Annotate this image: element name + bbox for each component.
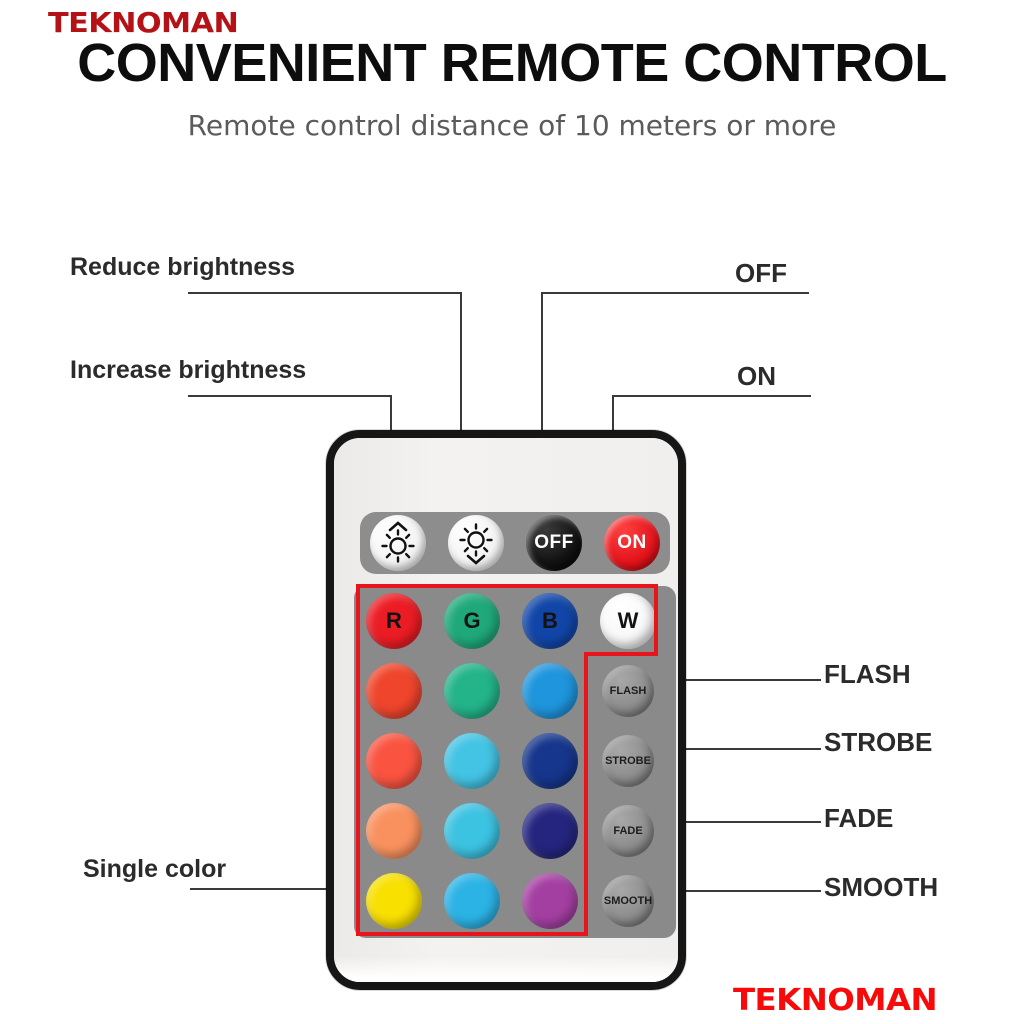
power-on-label: ON xyxy=(604,515,660,571)
color-button-white[interactable]: W xyxy=(600,593,656,649)
color-button-r2c2[interactable] xyxy=(444,663,500,719)
teknoman-logo-bottom: TEKNOMAN xyxy=(733,983,937,1018)
color-button-r5c3[interactable] xyxy=(522,873,578,929)
leader-line-increase-h xyxy=(188,395,392,397)
page-subtitle: Remote control distance of 10 meters or … xyxy=(0,112,1024,140)
mode-button-label-smooth: SMOOTH xyxy=(602,875,654,927)
callout-label-smooth: SMOOTH xyxy=(824,872,938,903)
annotation-frame-top xyxy=(356,584,658,588)
callout-label-strobe: STROBE xyxy=(824,727,932,758)
sun-arrow-down-icon xyxy=(448,515,504,571)
mode-button-strobe[interactable]: STROBE xyxy=(602,735,654,787)
mode-button-fade[interactable]: FADE xyxy=(602,805,654,857)
color-button-r2c1[interactable] xyxy=(366,663,422,719)
callout-label-fade: FADE xyxy=(824,803,893,834)
poster-canvas: TEKNOMAN TEKNOMAN TEKNOMAN TEKNOMAN CONV… xyxy=(0,0,1024,1024)
mode-button-flash[interactable]: FLASH xyxy=(602,665,654,717)
leader-line-off-h xyxy=(541,292,809,294)
mode-button-label-fade: FADE xyxy=(602,805,654,857)
callout-label-off: OFF xyxy=(735,258,787,289)
mode-button-label-strobe: STROBE xyxy=(602,735,654,787)
mode-button-smooth[interactable]: SMOOTH xyxy=(602,875,654,927)
callout-label-increase-brightness: Increase brightness xyxy=(70,356,306,385)
sun-arrow-up-icon xyxy=(370,515,426,571)
annotation-frame-bottom xyxy=(356,932,588,936)
color-button-r2c3[interactable] xyxy=(522,663,578,719)
leader-line-single-color xyxy=(190,888,335,890)
color-button-red[interactable]: R xyxy=(366,593,422,649)
color-button-label-w: W xyxy=(600,593,656,649)
color-button-label-g: G xyxy=(444,593,500,649)
callout-label-single-color: Single color xyxy=(83,855,226,884)
page-title: CONVENIENT REMOTE CONTROL xyxy=(0,36,1024,90)
power-on-button[interactable]: ON xyxy=(604,515,660,571)
annotation-frame-right-lower xyxy=(584,652,588,936)
brightness-down-button[interactable] xyxy=(370,515,426,571)
callout-label-on: ON xyxy=(737,361,776,392)
color-button-r3c2[interactable] xyxy=(444,733,500,789)
color-button-label-b: B xyxy=(522,593,578,649)
leader-line-reduce-h xyxy=(188,292,462,294)
color-button-r5c1[interactable] xyxy=(366,873,422,929)
teknoman-watermark-left: TEKNOMAN xyxy=(0,782,3,962)
power-off-button[interactable]: OFF xyxy=(526,515,582,571)
callout-label-flash: FLASH xyxy=(824,659,911,690)
color-button-blue[interactable]: B xyxy=(522,593,578,649)
color-button-label-r: R xyxy=(366,593,422,649)
color-button-r3c3[interactable] xyxy=(522,733,578,789)
mode-button-label-flash: FLASH xyxy=(602,665,654,717)
remote-control-device: OFF ON R G B W FLASH ST xyxy=(326,430,686,990)
brightness-up-button[interactable] xyxy=(448,515,504,571)
color-button-r4c2[interactable] xyxy=(444,803,500,859)
annotation-frame-left xyxy=(356,584,360,936)
annotation-frame-right-upper xyxy=(654,584,658,656)
color-button-r5c2[interactable] xyxy=(444,873,500,929)
color-button-r4c3[interactable] xyxy=(522,803,578,859)
callout-label-reduce-brightness: Reduce brightness xyxy=(70,253,295,282)
annotation-frame-step xyxy=(584,652,658,656)
leader-line-on-h xyxy=(612,395,811,397)
power-off-label: OFF xyxy=(526,515,582,571)
color-button-green[interactable]: G xyxy=(444,593,500,649)
color-button-r4c1[interactable] xyxy=(366,803,422,859)
color-button-r3c1[interactable] xyxy=(366,733,422,789)
